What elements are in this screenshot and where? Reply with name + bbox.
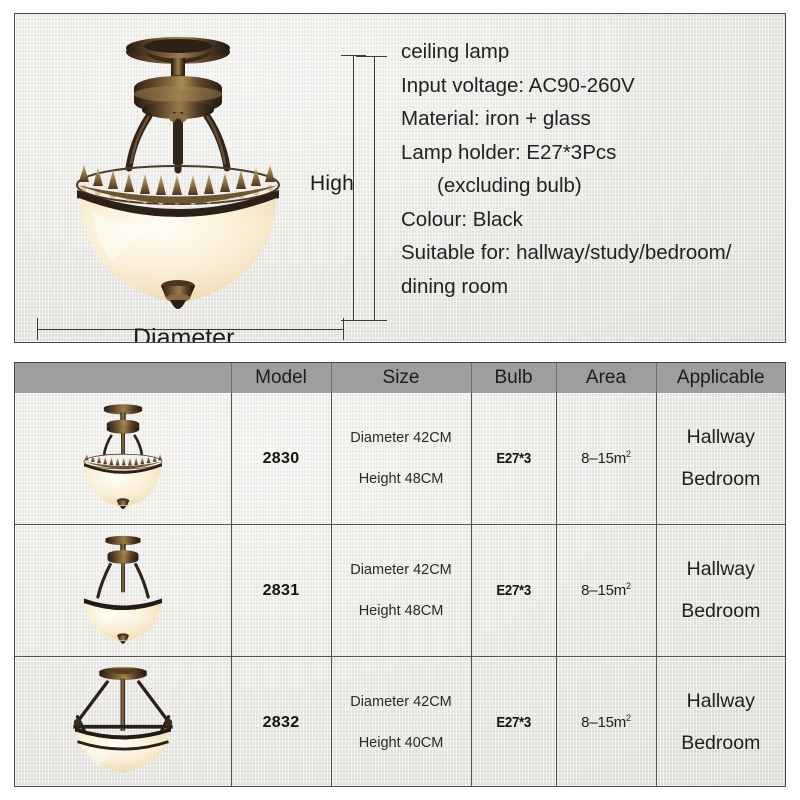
table-cell-area: 8–15m2 [556,657,656,788]
table-cell-applicable: Hallway Bedroom [656,657,785,788]
ceiling-lamp-plain-2831-thumbnail [59,530,187,646]
area-range: 8–15m [581,714,626,731]
table-cell-bulb: E27*3 [471,393,556,525]
diameter-dimension-tick-right [343,318,344,340]
spec-line-lamp-holder: Lamp holder: E27*3Pcs [401,143,786,164]
spec-line-material: Material: iron + glass [401,109,786,130]
table-cell-bulb: E27*3 [471,525,556,657]
size-height-value: Height 48CM [332,604,471,619]
area-value: 8–15m2 [581,450,631,467]
spec-bracket-cap-top [356,56,387,57]
size-diameter-value: Diameter 42CM [332,563,471,578]
size-diameter-value: Diameter 42CM [332,431,471,446]
hero-lamp-stage [15,14,345,343]
height-dimension-label: High [310,172,354,196]
diameter-dimension-label: Diameter [133,324,234,343]
spec-line-input-voltage: Input voltage: AC90-260V [401,76,786,97]
applicable-primary: Hallway [657,560,786,580]
models-table-panel: Model Size Bulb Area Applicable [14,362,786,787]
table-cell-bulb: E27*3 [471,657,556,788]
table-cell-image [15,393,231,525]
size-height-value: Height 48CM [332,472,471,487]
spec-line-product-name: ceiling lamp [401,42,786,63]
table-cell-area: 8–15m2 [556,393,656,525]
applicable-secondary: Bedroom [657,602,786,622]
models-table: Model Size Bulb Area Applicable [15,363,785,787]
product-spec-page: High Diameter ceiling lamp Input voltage… [0,0,800,800]
spec-bracket-line [374,56,375,321]
area-value: 8–15m2 [581,582,631,599]
table-cell-model: 2832 [231,657,331,788]
table-header-size: Size [331,363,471,393]
table-cell-model: 2830 [231,393,331,525]
model-value: 2832 [263,714,300,731]
area-range: 8–15m [581,582,626,599]
table-header-area: Area [556,363,656,393]
table-header-applicable: Applicable [656,363,785,393]
applicable-primary: Hallway [657,428,786,448]
table-row: 2831 Diameter 42CM Height 48CM E27*3 8–1… [15,525,785,657]
spec-line-suitable-for: Suitable for: hallway/study/bedroom/ [401,243,786,264]
table-header-model: Model [231,363,331,393]
table-header-bulb: Bulb [471,363,556,393]
bulb-value: E27*3 [496,450,531,467]
table-cell-area: 8–15m2 [556,525,656,657]
table-cell-size: Diameter 42CM Height 40CM [331,657,471,788]
model-value: 2830 [263,450,300,467]
table-cell-applicable: Hallway Bedroom [656,393,785,525]
area-value: 8–15m2 [581,714,631,731]
bulb-value: E27*3 [496,714,531,731]
table-row: 2830 Diameter 42CM Height 48CM E27*3 8–1… [15,393,785,525]
size-height-value: Height 40CM [332,736,471,751]
bulb-value: E27*3 [496,582,531,599]
area-unit-superscript: 2 [626,581,631,591]
applicable-primary: Hallway [657,692,786,712]
specification-list: ceiling lamp Input voltage: AC90-260V Ma… [401,42,786,310]
table-cell-model: 2831 [231,525,331,657]
table-cell-image [15,657,231,788]
ceiling-lamp-crown-illustration [33,22,323,322]
ceiling-lamp-crown-2830-thumbnail [59,398,187,514]
spec-line-suitable-for-cont: dining room [401,277,786,298]
table-header-row: Model Size Bulb Area Applicable [15,363,785,393]
size-diameter-value: Diameter 42CM [332,695,471,710]
table-cell-applicable: Hallway Bedroom [656,525,785,657]
spec-line-colour: Colour: Black [401,210,786,231]
area-unit-superscript: 2 [626,713,631,723]
area-unit-superscript: 2 [626,449,631,459]
applicable-secondary: Bedroom [657,734,786,754]
table-row: 2832 Diameter 42CM Height 40CM E27*3 8–1… [15,657,785,788]
table-cell-image [15,525,231,657]
spec-bracket-cap-bottom [356,320,387,321]
hero-panel: High Diameter ceiling lamp Input voltage… [14,13,786,343]
model-value: 2831 [263,582,300,599]
area-range: 8–15m [581,450,626,467]
spec-line-excluding-bulb: (excluding bulb) [401,176,786,197]
table-header-image [15,363,231,393]
table-cell-size: Diameter 42CM Height 48CM [331,393,471,525]
table-cell-size: Diameter 42CM Height 48CM [331,525,471,657]
applicable-secondary: Bedroom [657,470,786,490]
ceiling-lamp-angular-2832-thumbnail [53,660,193,780]
